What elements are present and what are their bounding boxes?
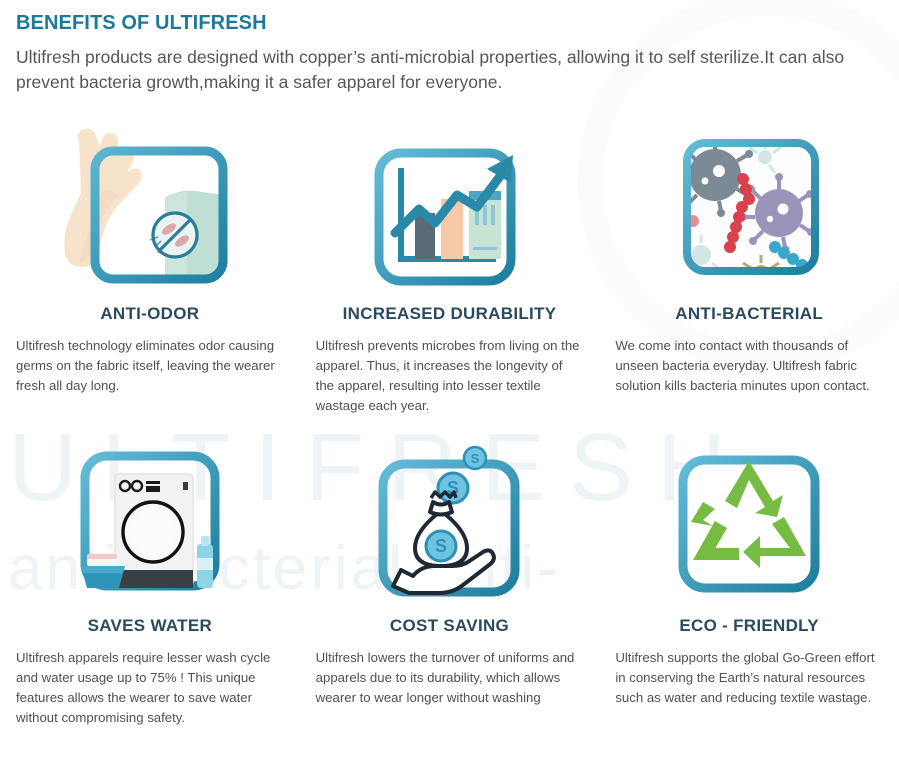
benefit-card-eco-friendly: ECO - FRIENDLY Ultifresh supports the gl… <box>599 434 899 728</box>
icon-container-increased-durability <box>316 113 584 298</box>
benefit-card-anti-bacterial: ANTI-BACTERIAL We come into contact with… <box>599 113 899 416</box>
benefit-card-increased-durability: INCREASED DURABILITY Ultifresh prevents … <box>300 113 600 416</box>
page-title: BENEFITS OF ULTIFRESH <box>16 12 883 35</box>
benefit-title-cost-saving: COST SAVING <box>316 616 584 636</box>
benefit-card-saves-water: SAVES WATER Ultifresh apparels require l… <box>0 434 300 728</box>
hand-money-bag-icon: S S S <box>357 436 542 611</box>
bacteria-icon <box>657 113 842 298</box>
growth-chart-icon <box>357 113 542 298</box>
svg-text:S: S <box>435 536 447 556</box>
benefit-title-saves-water: SAVES WATER <box>16 616 284 636</box>
benefit-description-anti-odor: Ultifresh technology eliminates odor cau… <box>16 336 284 396</box>
benefits-page: BENEFITS OF ULTIFRESH Ultifresh products… <box>0 0 899 728</box>
benefit-description-eco-friendly: Ultifresh supports the global Go-Green e… <box>615 648 883 708</box>
benefit-card-cost-saving: S S S COST SAVING Ultifresh lowers the <box>300 434 600 728</box>
benefit-title-increased-durability: INCREASED DURABILITY <box>316 304 584 324</box>
money-bag-neck <box>430 502 452 515</box>
benefit-description-anti-bacterial: We come into contact with thousands of u… <box>615 336 883 396</box>
benefit-description-cost-saving: Ultifresh lowers the turnover of uniform… <box>316 648 584 708</box>
page-intro-paragraph: Ultifresh products are designed with cop… <box>16 45 883 95</box>
benefit-description-saves-water: Ultifresh apparels require lesser wash c… <box>16 648 284 728</box>
benefit-description-increased-durability: Ultifresh prevents microbes from living … <box>316 336 584 416</box>
svg-text:S: S <box>471 451 480 466</box>
raised-arm-no-odor-icon <box>57 113 242 298</box>
page-header: BENEFITS OF ULTIFRESH Ultifresh products… <box>0 0 899 95</box>
icon-container-cost-saving: S S S <box>316 434 584 614</box>
benefit-title-anti-bacterial: ANTI-BACTERIAL <box>615 304 883 324</box>
icon-container-anti-bacterial <box>615 113 883 298</box>
icon-container-anti-odor <box>16 113 284 298</box>
benefits-grid-row-2: SAVES WATER Ultifresh apparels require l… <box>0 434 899 728</box>
icon-container-saves-water <box>16 434 284 614</box>
benefit-card-anti-odor: ANTI-ODOR Ultifresh technology eliminate… <box>0 113 300 416</box>
washing-machine-icon <box>57 436 242 611</box>
benefit-title-eco-friendly: ECO - FRIENDLY <box>615 616 883 636</box>
benefits-grid-row-1: ANTI-ODOR Ultifresh technology eliminate… <box>0 113 899 416</box>
benefit-title-anti-odor: ANTI-ODOR <box>16 304 284 324</box>
icon-container-eco-friendly <box>615 434 883 614</box>
recycle-icon <box>657 436 842 611</box>
